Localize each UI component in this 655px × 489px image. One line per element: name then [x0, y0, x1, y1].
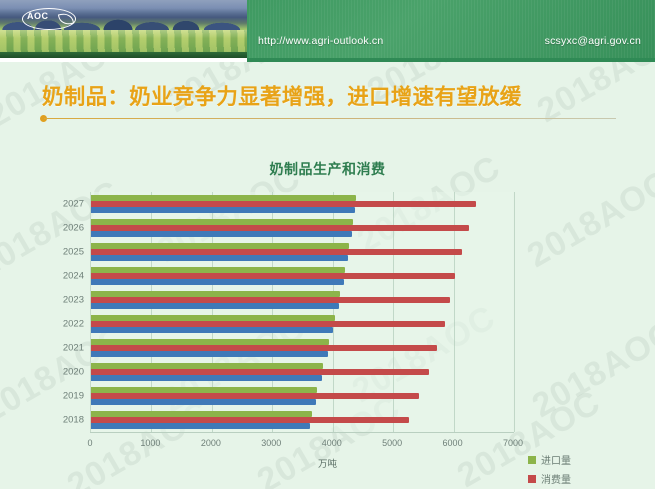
chart-bar-group: 2023 — [91, 288, 513, 312]
x-tick-label: 6000 — [443, 438, 463, 448]
chart-bar — [91, 255, 348, 261]
chart-bar-group: 2025 — [91, 240, 513, 264]
chart-legend: 进口量 消费量 生产量 — [528, 450, 571, 489]
chart-bar — [91, 423, 310, 429]
logo-text: AOC — [27, 11, 49, 21]
chart-bar-group: 2019 — [91, 384, 513, 408]
chart-bar-group: 2022 — [91, 312, 513, 336]
chart-bar — [91, 279, 344, 285]
header-divider — [0, 58, 655, 62]
chart-bar-group: 2018 — [91, 408, 513, 432]
legend-swatch-import — [528, 456, 536, 464]
slide-title: 奶制品：奶业竞争力显著增强，进口增速有望放缓 — [42, 80, 622, 111]
chart-bar-group: 2021 — [91, 336, 513, 360]
legend-label-consumption: 消费量 — [541, 471, 571, 486]
aoc-logo: AOC — [22, 8, 76, 30]
header-website-url[interactable]: http://www.agri-outlook.cn — [258, 35, 383, 47]
y-axis-category-label: 2019 — [63, 391, 84, 402]
chart-title: 奶制品生产和消费 — [0, 159, 655, 179]
x-tick-label: 2000 — [201, 438, 221, 448]
x-tick-label: 0 — [87, 438, 92, 448]
y-axis-category-label: 2026 — [63, 223, 84, 234]
x-tick-label: 1000 — [140, 438, 160, 448]
chart-gridline — [514, 192, 515, 432]
x-axis-baseline — [90, 432, 514, 433]
y-axis-category-label: 2024 — [63, 271, 84, 282]
x-tick-label: 4000 — [322, 438, 342, 448]
y-axis-category-label: 2018 — [63, 415, 84, 426]
x-tick-label: 5000 — [382, 438, 402, 448]
chart-bar-group: 2020 — [91, 360, 513, 384]
chart-bar — [91, 351, 328, 357]
y-axis-category-label: 2027 — [63, 199, 84, 210]
x-tick-label: 7000 — [503, 438, 523, 448]
chart-bar-group: 2026 — [91, 216, 513, 240]
legend-item-consumption[interactable]: 消费量 — [528, 469, 571, 488]
y-axis-category-label: 2020 — [63, 367, 84, 378]
y-axis-category-label: 2023 — [63, 295, 84, 306]
title-underline-rule — [44, 118, 616, 119]
x-tick-label: 3000 — [261, 438, 281, 448]
y-axis-category-label: 2021 — [63, 343, 84, 354]
chart-bar — [91, 327, 333, 333]
chart-bar — [91, 399, 316, 405]
chart-bar — [91, 375, 322, 381]
legend-label-import: 进口量 — [541, 452, 571, 467]
y-axis-category-label: 2022 — [63, 319, 84, 330]
legend-item-import[interactable]: 进口量 — [528, 450, 571, 469]
chart-bar — [91, 303, 339, 309]
chart-plot-area: 2027202620252024202320222021202020192018 — [90, 192, 513, 432]
chart-bar — [91, 207, 355, 213]
header-email-address[interactable]: scsyxc@agri.gov.cn — [545, 35, 641, 47]
chart-container: 奶制品生产和消费 2027202620252024202320222021202… — [0, 146, 655, 476]
legend-swatch-consumption — [528, 475, 536, 483]
y-axis-category-label: 2025 — [63, 247, 84, 258]
chart-bar-group: 2027 — [91, 192, 513, 216]
page-header: AOC http://www.agri-outlook.cn scsyxc@ag… — [0, 0, 655, 62]
chart-bar — [91, 231, 352, 237]
chart-bar-group: 2024 — [91, 264, 513, 288]
